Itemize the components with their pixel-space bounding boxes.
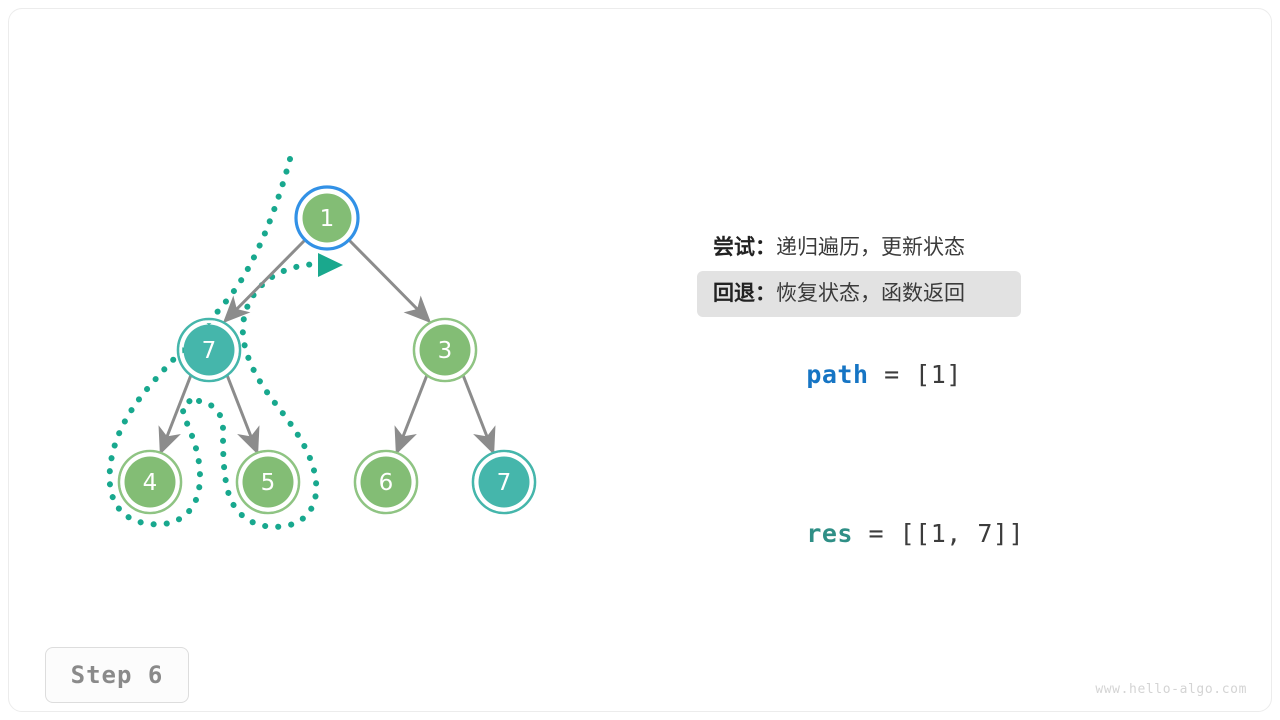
node-value-label: 7 (202, 338, 217, 364)
watermark: www.hello-algo.com (1095, 682, 1247, 697)
tree-node-3[interactable]: 3 (414, 319, 476, 381)
tree-node-7-left[interactable]: 7 (178, 319, 240, 381)
legend-row-try: 尝试：递归遍历，更新状态 (697, 225, 1021, 271)
legend-try-value: 递归遍历，更新状态 (776, 236, 965, 259)
tree-node-7-right[interactable]: 7 (473, 451, 535, 513)
legend-row-backtrack: 回退：恢复状态，函数返回 (697, 271, 1021, 317)
node-value-label: 3 (438, 338, 453, 364)
legend-try-key: 尝试： (713, 236, 776, 259)
edge-7-5 (227, 375, 257, 452)
state-panel: 尝试：递归遍历，更新状态 回退：恢复状态，函数返回 path = [1] res… (697, 225, 1217, 577)
tree-node-4[interactable]: 4 (119, 451, 181, 513)
node-value-label: 1 (320, 206, 335, 232)
node-value-label: 6 (379, 470, 394, 496)
legend-backtrack-key: 回退： (713, 282, 776, 305)
edge-3-7 (463, 375, 493, 452)
edge-7-4 (161, 375, 191, 452)
res-state-row: res = [[1, 7]] (697, 490, 1217, 577)
trace-arrowhead-icon (318, 253, 343, 277)
tree-node-1[interactable]: 1 (296, 187, 358, 249)
legend-backtrack-value: 恢复状态，函数返回 (776, 282, 965, 305)
res-variable-name: res (806, 519, 853, 548)
step-label: Step 6 (71, 661, 164, 689)
step-badge: Step 6 (45, 647, 189, 703)
edge-3-6 (397, 375, 427, 452)
path-variable-name: path (806, 360, 868, 389)
node-value-label: 5 (261, 470, 276, 496)
tree-node-6[interactable]: 6 (355, 451, 417, 513)
tree-node-5[interactable]: 5 (237, 451, 299, 513)
diagram-frame: 1 7 3 4 5 (8, 8, 1272, 712)
edge-1-3 (349, 240, 429, 321)
edge-1-7 (225, 240, 305, 321)
res-variable-value: = [[1, 7]] (853, 519, 1024, 548)
node-value-label: 7 (497, 470, 512, 496)
path-variable-value: = [1] (869, 360, 962, 389)
node-value-label: 4 (143, 470, 158, 496)
path-state-row: path = [1] (697, 331, 1217, 418)
